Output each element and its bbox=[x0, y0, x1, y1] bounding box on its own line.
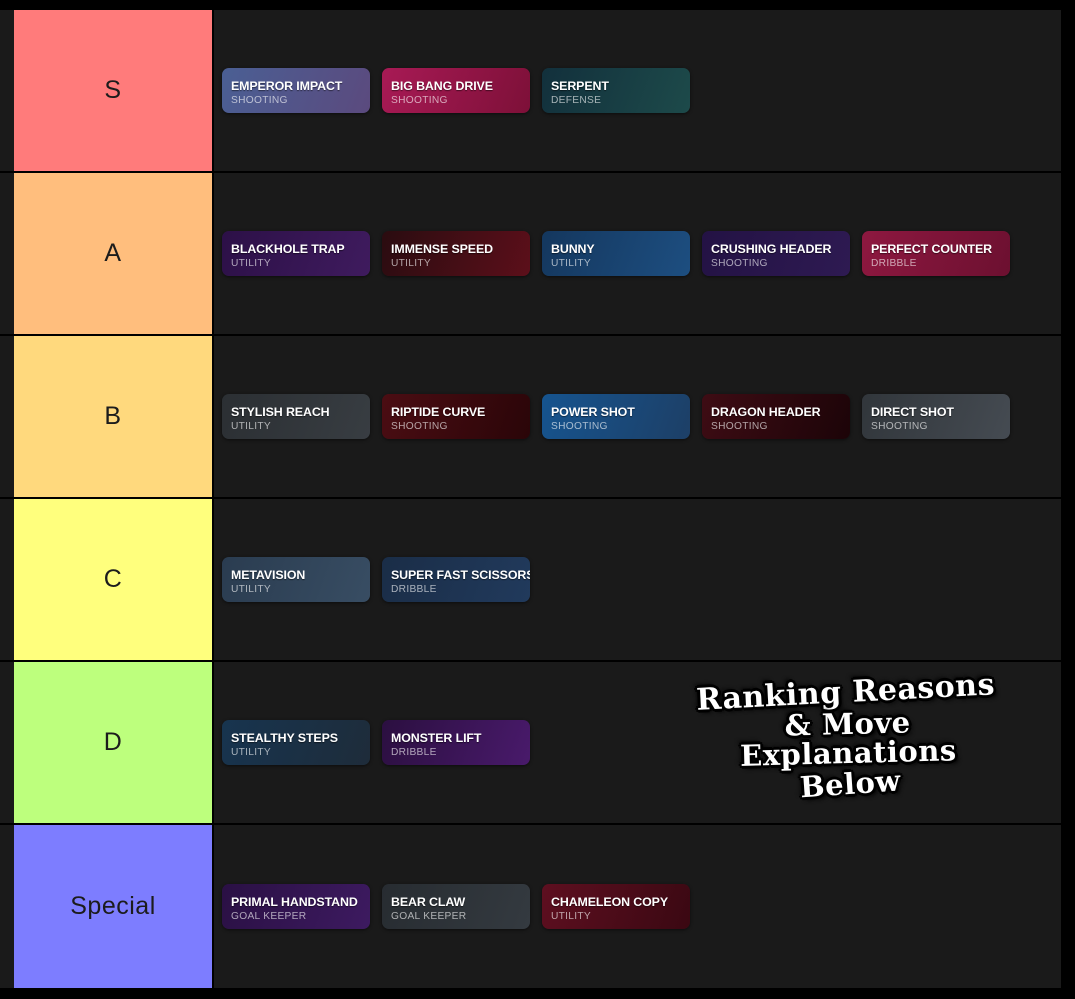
move-card-category: UTILITY bbox=[391, 257, 521, 270]
move-card[interactable]: STYLISH REACHUTILITY bbox=[222, 394, 370, 439]
move-card-title: SUPER FAST SCISSORS bbox=[391, 568, 521, 582]
tier-label[interactable]: C bbox=[14, 499, 214, 660]
move-card-title: CRUSHING HEADER bbox=[711, 242, 841, 256]
tier-label[interactable]: B bbox=[14, 336, 214, 497]
move-card-category: UTILITY bbox=[231, 420, 361, 433]
move-card-title: SERPENT bbox=[551, 79, 681, 93]
move-card-category: GOAL KEEPER bbox=[231, 910, 361, 923]
move-card[interactable]: PRIMAL HANDSTANDGOAL KEEPER bbox=[222, 884, 370, 929]
move-card-category: SHOOTING bbox=[391, 94, 521, 107]
tier-items: BLACKHOLE TRAPUTILITYIMMENSE SPEEDUTILIT… bbox=[214, 173, 1061, 334]
tier-row: SpecialPRIMAL HANDSTANDGOAL KEEPERBEAR C… bbox=[0, 825, 1061, 988]
move-card[interactable]: METAVISIONUTILITY bbox=[222, 557, 370, 602]
move-card-category: UTILITY bbox=[231, 746, 361, 759]
move-card-title: IMMENSE SPEED bbox=[391, 242, 521, 256]
move-card-title: EMPEROR IMPACT bbox=[231, 79, 361, 93]
move-card-category: DRIBBLE bbox=[391, 746, 521, 759]
move-card[interactable]: DIRECT SHOTSHOOTING bbox=[862, 394, 1010, 439]
move-card-category: GOAL KEEPER bbox=[391, 910, 521, 923]
tier-items: STEALTHY STEPSUTILITYMONSTER LIFTDRIBBLE bbox=[214, 662, 1061, 823]
tier-items: METAVISIONUTILITYSUPER FAST SCISSORSDRIB… bbox=[214, 499, 1061, 660]
move-card-title: STEALTHY STEPS bbox=[231, 731, 361, 745]
tier-row: DSTEALTHY STEPSUTILITYMONSTER LIFTDRIBBL… bbox=[0, 662, 1061, 825]
tier-list: SEMPEROR IMPACTSHOOTINGBIG BANG DRIVESHO… bbox=[0, 10, 1061, 988]
move-card-title: PERFECT COUNTER bbox=[871, 242, 1001, 256]
move-card[interactable]: CHAMELEON COPYUTILITY bbox=[542, 884, 690, 929]
tier-items: EMPEROR IMPACTSHOOTINGBIG BANG DRIVESHOO… bbox=[214, 10, 1061, 171]
tier-row: SEMPEROR IMPACTSHOOTINGBIG BANG DRIVESHO… bbox=[0, 10, 1061, 173]
move-card-category: UTILITY bbox=[551, 910, 681, 923]
move-card-category: UTILITY bbox=[231, 257, 361, 270]
tier-items: STYLISH REACHUTILITYRIPTIDE CURVESHOOTIN… bbox=[214, 336, 1061, 497]
move-card[interactable]: DRAGON HEADERSHOOTING bbox=[702, 394, 850, 439]
tier-label[interactable]: S bbox=[14, 10, 214, 171]
move-card-title: METAVISION bbox=[231, 568, 361, 582]
tier-row: BSTYLISH REACHUTILITYRIPTIDE CURVESHOOTI… bbox=[0, 336, 1061, 499]
move-card-title: MONSTER LIFT bbox=[391, 731, 521, 745]
move-card[interactable]: BIG BANG DRIVESHOOTING bbox=[382, 68, 530, 113]
tier-label[interactable]: A bbox=[14, 173, 214, 334]
move-card[interactable]: MONSTER LIFTDRIBBLE bbox=[382, 720, 530, 765]
move-card-title: DIRECT SHOT bbox=[871, 405, 1001, 419]
tier-row: CMETAVISIONUTILITYSUPER FAST SCISSORSDRI… bbox=[0, 499, 1061, 662]
move-card-title: PRIMAL HANDSTAND bbox=[231, 895, 361, 909]
tier-label[interactable]: D bbox=[14, 662, 214, 823]
move-card[interactable]: POWER SHOTSHOOTING bbox=[542, 394, 690, 439]
move-card-category: SHOOTING bbox=[391, 420, 521, 433]
tier-row: ABLACKHOLE TRAPUTILITYIMMENSE SPEEDUTILI… bbox=[0, 173, 1061, 336]
move-card-category: SHOOTING bbox=[231, 94, 361, 107]
move-card-category: DEFENSE bbox=[551, 94, 681, 107]
move-card-title: STYLISH REACH bbox=[231, 405, 361, 419]
tier-label[interactable]: Special bbox=[14, 825, 214, 988]
move-card-category: SHOOTING bbox=[871, 420, 1001, 433]
tier-items: PRIMAL HANDSTANDGOAL KEEPERBEAR CLAWGOAL… bbox=[214, 825, 1061, 988]
move-card[interactable]: STEALTHY STEPSUTILITY bbox=[222, 720, 370, 765]
move-card-category: DRIBBLE bbox=[391, 583, 521, 596]
move-card-title: POWER SHOT bbox=[551, 405, 681, 419]
move-card-title: DRAGON HEADER bbox=[711, 405, 841, 419]
move-card-category: UTILITY bbox=[231, 583, 361, 596]
move-card[interactable]: RIPTIDE CURVESHOOTING bbox=[382, 394, 530, 439]
move-card[interactable]: CRUSHING HEADERSHOOTING bbox=[702, 231, 850, 276]
move-card-title: RIPTIDE CURVE bbox=[391, 405, 521, 419]
move-card[interactable]: SUPER FAST SCISSORSDRIBBLE bbox=[382, 557, 530, 602]
move-card-category: SHOOTING bbox=[711, 420, 841, 433]
move-card-title: BIG BANG DRIVE bbox=[391, 79, 521, 93]
move-card[interactable]: BUNNYUTILITY bbox=[542, 231, 690, 276]
move-card-title: BUNNY bbox=[551, 242, 681, 256]
move-card-title: CHAMELEON COPY bbox=[551, 895, 681, 909]
move-card[interactable]: BEAR CLAWGOAL KEEPER bbox=[382, 884, 530, 929]
move-card[interactable]: IMMENSE SPEEDUTILITY bbox=[382, 231, 530, 276]
move-card-category: DRIBBLE bbox=[871, 257, 1001, 270]
move-card[interactable]: PERFECT COUNTERDRIBBLE bbox=[862, 231, 1010, 276]
move-card-category: SHOOTING bbox=[551, 420, 681, 433]
move-card[interactable]: SERPENTDEFENSE bbox=[542, 68, 690, 113]
move-card-category: SHOOTING bbox=[711, 257, 841, 270]
move-card-category: UTILITY bbox=[551, 257, 681, 270]
move-card-title: BLACKHOLE TRAP bbox=[231, 242, 361, 256]
move-card[interactable]: BLACKHOLE TRAPUTILITY bbox=[222, 231, 370, 276]
move-card-title: BEAR CLAW bbox=[391, 895, 521, 909]
move-card[interactable]: EMPEROR IMPACTSHOOTING bbox=[222, 68, 370, 113]
